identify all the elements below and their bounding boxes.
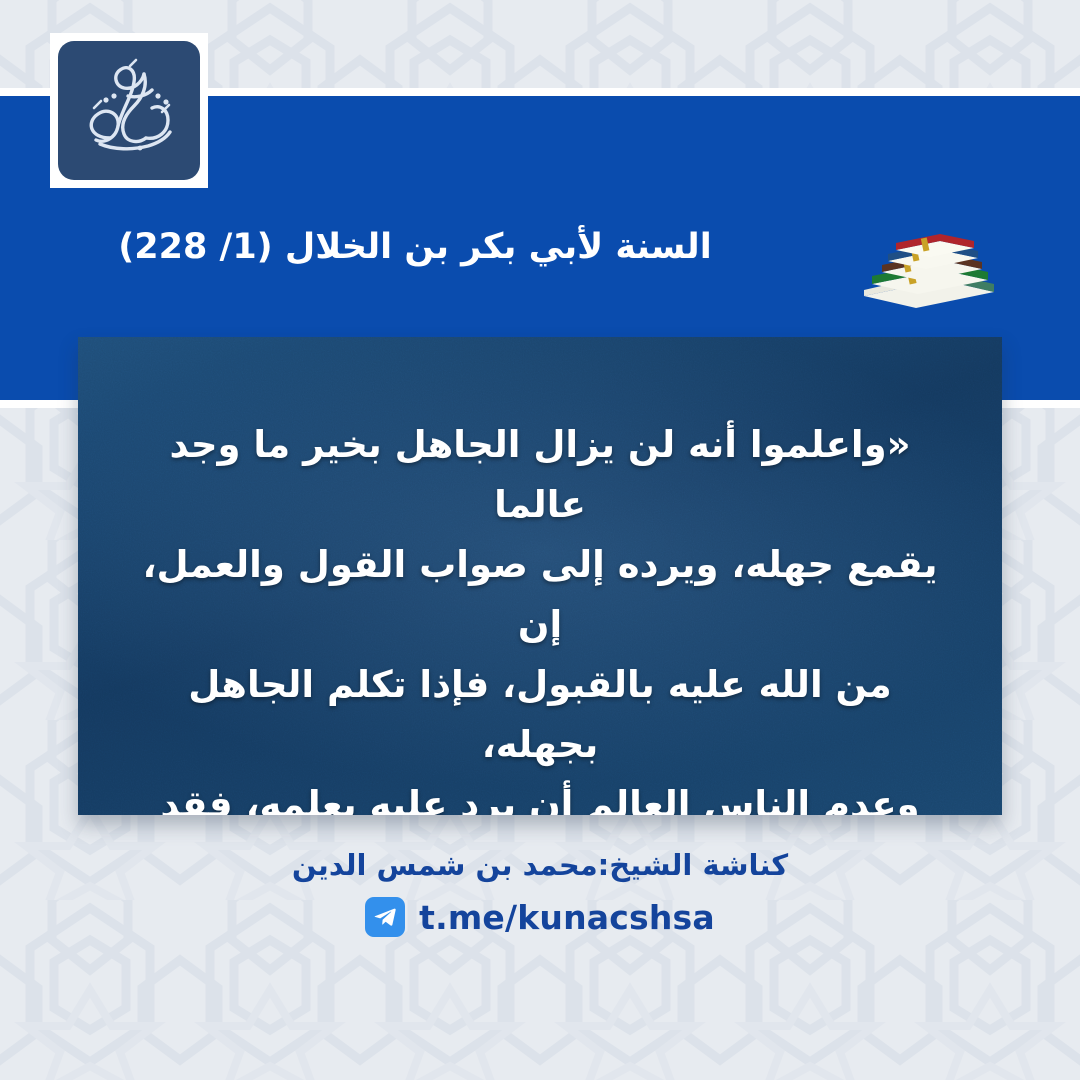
quote-line: «واعلموا أنه لن يزال الجاهل بخير ما وجد … [124,415,956,535]
books-stack-icon [846,222,1006,312]
footer-link-row[interactable]: t.me/kunacshsa [0,897,1080,937]
poster-canvas: السنة لأبي بكر بن الخلال (1/ 228) [0,0,1080,1080]
quote-card: «واعلموا أنه لن يزال الجاهل بخير ما وجد … [78,337,1002,815]
quote-body: «واعلموا أنه لن يزال الجاهل بخير ما وجد … [78,337,1002,815]
footer: كناشة الشيخ:محمد بن شمس الدين t.me/kunac… [0,846,1080,937]
shams-al-deen-calligraphy-icon [70,52,188,170]
telegram-icon[interactable] [365,897,405,937]
page-title: السنة لأبي بكر بن الخلال (1/ 228) [0,222,830,273]
footer-credit: كناشة الشيخ:محمد بن شمس الدين [0,846,1080,885]
quote-line: وعدم الناس العالم أن يرد عليه بعلمه، فقد [124,775,956,815]
brand-logo [50,33,208,188]
telegram-channel-link[interactable]: t.me/kunacshsa [419,898,715,937]
logo-tile [58,41,200,180]
quote-line: من الله عليه بالقبول، فإذا تكلم الجاهل ب… [124,655,956,775]
quote-line: يقمع جهله، ويرده إلى صواب القول والعمل، … [124,535,956,655]
